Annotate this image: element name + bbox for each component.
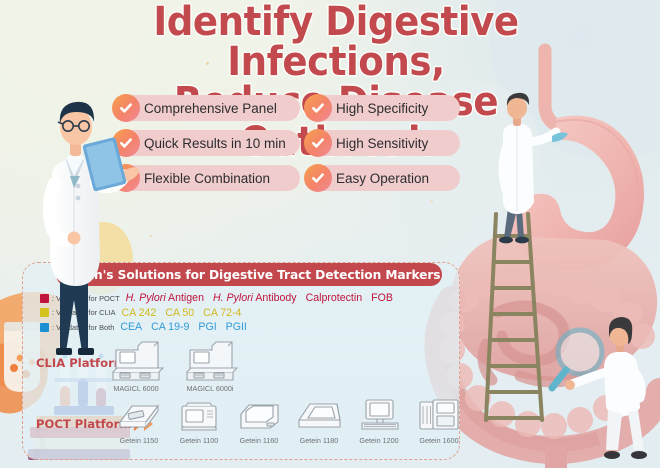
device-magicl-6000[interactable]: MAGICL 6000: [108, 340, 164, 393]
feature-row-3: Flexible Combination Easy Operation: [114, 165, 460, 191]
feature-pill-group: Comprehensive Panel High Specificity Qui…: [114, 95, 460, 200]
device-name: Getein 1180: [300, 436, 339, 445]
legend-label: : Validated for CLIA: [52, 308, 116, 317]
marker-cea: CEA: [120, 321, 142, 333]
flatbed-reader-icon: [294, 398, 344, 434]
device-name: Getein 1600: [419, 436, 458, 445]
marker-ca-72-4: CA 72-4: [203, 307, 241, 319]
device-name: Getein 1160: [240, 436, 279, 445]
legend-label: : Validated for POCT: [52, 294, 120, 303]
marker-h-pylori-antigen: H. Pylori Antigen: [126, 292, 204, 304]
marker-legend: : Validated for POCT H. Pylori Antigen H…: [40, 291, 402, 335]
device-name: Getein 1150: [120, 436, 159, 445]
infographic-poster: Identify Digestive Infections, Reduce Di…: [0, 0, 660, 468]
feature-pill-comprehensive-panel[interactable]: Comprehensive Panel: [114, 95, 300, 121]
check-icon: [112, 129, 140, 157]
device-magicl-6000i[interactable]: MAGICL 6000i: [182, 340, 238, 393]
device-getein-1200[interactable]: Getein 1200: [353, 398, 405, 445]
feature-row-2: Quick Results in 10 min High Sensitivity: [114, 130, 460, 156]
feature-pill-easy-operation[interactable]: Easy Operation: [306, 165, 460, 191]
feature-pill-high-sensitivity[interactable]: High Sensitivity: [306, 130, 460, 156]
device-getein-1180[interactable]: Getein 1180: [293, 398, 345, 445]
modular-analyzer-icon: [414, 398, 464, 434]
legend-row-clia: : Validated for CLIA CA 242 CA 50 CA 72-…: [40, 306, 402, 321]
clia-analyzer-icon: [182, 340, 238, 382]
clia-analyzer-icon: [108, 340, 164, 382]
feature-label: High Sensitivity: [336, 136, 428, 151]
clia-device-row: MAGICL 6000: [108, 340, 238, 393]
feature-pill-high-specificity[interactable]: High Specificity: [306, 95, 460, 121]
feature-row-1: Comprehensive Panel High Specificity: [114, 95, 460, 121]
feature-label: Comprehensive Panel: [144, 101, 277, 116]
legend-swatch-poct: [40, 294, 49, 303]
device-name: MAGICL 6000: [113, 384, 158, 393]
device-getein-1160[interactable]: Getein 1160: [233, 398, 285, 445]
marker-ca-242: CA 242: [122, 307, 157, 319]
feature-label: Easy Operation: [336, 171, 429, 186]
check-icon: [304, 164, 332, 192]
device-name: Getein 1100: [180, 436, 219, 445]
speck: [430, 200, 433, 203]
check-icon: [112, 94, 140, 122]
marker-pgii: PGII: [226, 321, 247, 333]
poct-device-row: Getein 1150 Getein 1100: [113, 398, 465, 445]
legend-row-poct: : Validated for POCT H. Pylori Antigen H…: [40, 291, 402, 306]
legend-row-both: : Validated for Both CEA CA 19-9 PGI PGI…: [40, 320, 402, 335]
marker-ca-19-9: CA 19-9: [151, 321, 189, 333]
marker-h-pylori-antibody: H. Pylori Antibody: [213, 292, 297, 304]
legend-swatch-clia: [40, 308, 49, 317]
marker-pgi: PGI: [198, 321, 216, 333]
check-icon: [304, 94, 332, 122]
speck: [150, 235, 152, 237]
device-name: Getein 1200: [359, 436, 398, 445]
title-line-1: Identify Digestive Infections,: [153, 0, 518, 85]
feature-label: Flexible Combination: [144, 171, 270, 186]
check-icon: [112, 164, 140, 192]
device-getein-1150[interactable]: Getein 1150: [113, 398, 165, 445]
handheld-reader-icon: [114, 398, 164, 434]
angled-reader-icon: [234, 398, 284, 434]
feature-pill-quick-results[interactable]: Quick Results in 10 min: [114, 130, 300, 156]
marker-fob: FOB: [371, 292, 393, 304]
feature-label: High Specificity: [336, 101, 428, 116]
marker-calprotectin: Calprotectin: [306, 292, 363, 304]
legend-label: : Validated for Both: [52, 323, 114, 332]
workstation-reader-icon: [354, 398, 404, 434]
device-name: MAGICL 6000i: [187, 384, 234, 393]
panel-header-label: Getein's Solutions for Digestive Tract D…: [58, 267, 441, 282]
solutions-panel-header: Getein's Solutions for Digestive Tract D…: [56, 263, 442, 286]
device-getein-1100[interactable]: Getein 1100: [173, 398, 225, 445]
benchtop-reader-icon: [174, 398, 224, 434]
marker-ca-50: CA 50: [165, 307, 194, 319]
device-getein-1600[interactable]: Getein 1600: [413, 398, 465, 445]
feature-pill-flexible-combination[interactable]: Flexible Combination: [114, 165, 300, 191]
check-icon: [304, 129, 332, 157]
legend-swatch-both: [40, 323, 49, 332]
feature-label: Quick Results in 10 min: [144, 136, 286, 151]
